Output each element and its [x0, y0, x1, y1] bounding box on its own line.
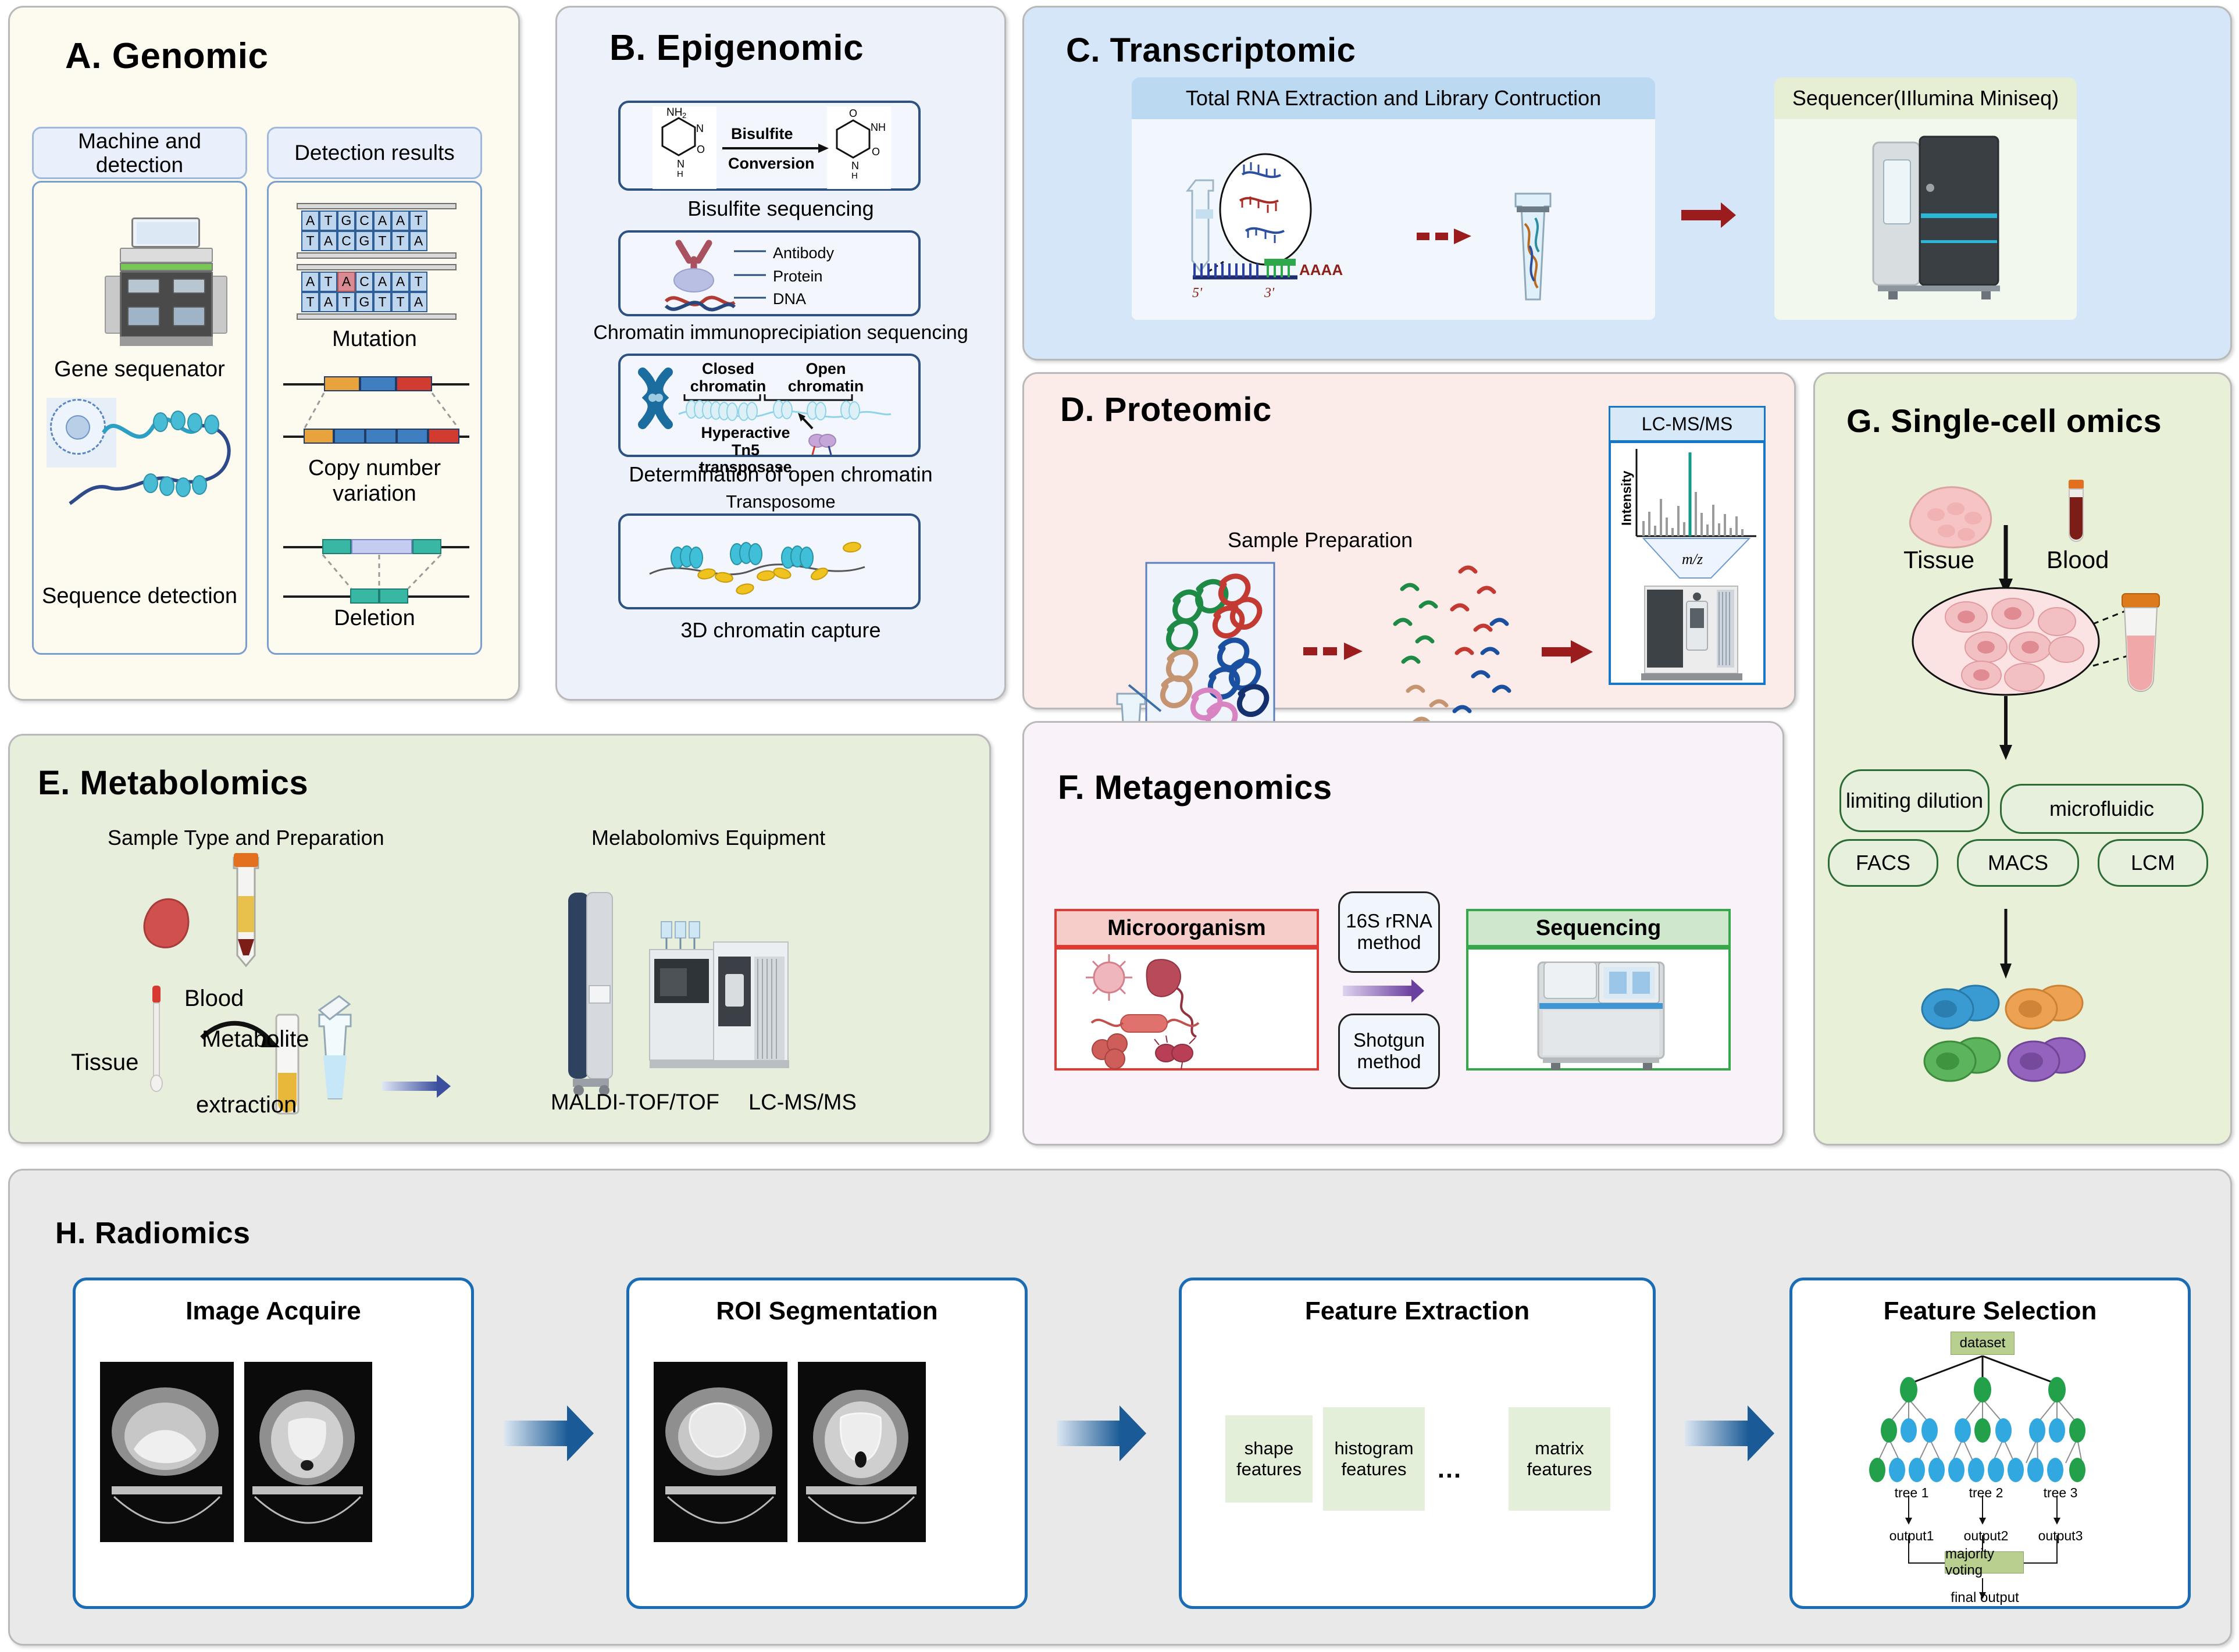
- dna-base: A: [373, 272, 391, 292]
- dna-base: T: [319, 210, 337, 231]
- svg-text:m/z: m/z: [1682, 551, 1703, 568]
- dna-base: T: [301, 231, 319, 251]
- image-acquire-title: Image Acquire: [76, 1297, 471, 1326]
- equipment-header: Melabolomivs Equipment: [591, 826, 825, 850]
- tree3-label: tree 3: [2034, 1485, 2087, 1501]
- microorganism-box: [1054, 947, 1319, 1071]
- machine-and-detection-header: Machine and detection: [32, 127, 247, 179]
- panel-metagenomics: F. Metagenomics Microorganism: [1022, 721, 1784, 1146]
- dna-base: A: [319, 231, 337, 251]
- panel-a-title: A. Genomic: [65, 35, 269, 77]
- histogram-features-label: histogram features: [1323, 1438, 1425, 1479]
- arrow-features-to-selection: [1685, 1421, 1749, 1446]
- method-16s-label: 16S rRNA method: [1340, 911, 1438, 954]
- dna-base: T: [373, 292, 391, 312]
- dna-base: T: [337, 292, 355, 312]
- method-shotgun-pill[interactable]: Shotgun method: [1338, 1014, 1440, 1089]
- dna-base: A: [337, 272, 355, 292]
- matrix-features-label: matrix features: [1509, 1438, 1610, 1479]
- deletion-caption: Deletion: [269, 606, 480, 631]
- blood-label: Blood: [184, 986, 244, 1012]
- facs-label: FACS: [1856, 851, 1910, 875]
- dna-base: A: [409, 292, 427, 312]
- svg-text:Bisulfite: Bisulfite: [731, 125, 793, 142]
- microfluidic-label: microfluidic: [2049, 797, 2154, 820]
- dna-base: A: [391, 210, 409, 231]
- method-limiting-dilution[interactable]: limiting dilution: [1839, 769, 1990, 832]
- lcms-equip-label: LC-MS/MS: [748, 1090, 857, 1115]
- to-equipment-arrow: [382, 1082, 438, 1091]
- antibody-label: Antibody: [773, 244, 834, 262]
- shape-features-label: shape features: [1225, 1438, 1313, 1479]
- protein-label: Protein: [773, 267, 823, 286]
- panel-proteomic: D. Proteomic Sample Preparation: [1022, 372, 1796, 709]
- dna-base: T: [301, 292, 319, 312]
- macs-label: MACS: [1988, 851, 2048, 875]
- svg-text:O: O: [697, 144, 705, 155]
- limiting-dilution-label: limiting dilution: [1846, 789, 1983, 812]
- tree1-label: tree 1: [1885, 1485, 1938, 1501]
- panel-c-title: C. Transcriptomic: [1066, 31, 1356, 70]
- dna-base: C: [355, 210, 373, 231]
- final-output-label: final output: [1951, 1590, 2019, 1606]
- detection-results-header: Detection results: [267, 127, 482, 179]
- chromatin3d-caption: 3D chromatin capture: [557, 618, 1004, 643]
- arrow-roi-to-features: [1057, 1421, 1121, 1446]
- svg-text:NH: NH: [871, 122, 886, 133]
- metabolomics-samples-illustration: [33, 840, 615, 1143]
- dna-base: A: [301, 272, 319, 292]
- svg-text:N: N: [696, 123, 704, 134]
- svg-text:N: N: [677, 158, 684, 170]
- panel-b-title: B. Epigenomic: [609, 27, 864, 69]
- panel-d-title: D. Proteomic: [1060, 390, 1272, 429]
- svg-text:NH: NH: [666, 106, 682, 119]
- method-facs[interactable]: FACS: [1828, 839, 1938, 887]
- dna-base: A: [409, 231, 427, 251]
- svg-text:3': 3': [1264, 286, 1275, 301]
- rna-extraction-body: AAAA 5' 3': [1132, 119, 1655, 320]
- dna-base: G: [355, 231, 373, 251]
- blood-source-label: Blood: [2047, 546, 2109, 574]
- chromatin3d-box: [618, 513, 921, 609]
- sequencer-body: [1774, 119, 2077, 320]
- dna-base: A: [373, 210, 391, 231]
- bisulfite-caption: Bisulfite sequencing: [557, 197, 1004, 221]
- svg-text:N: N: [851, 160, 859, 172]
- step-image-acquire: Image Acquire: [73, 1278, 474, 1609]
- panel-metabolomics: E. Metabolomics Sample Type and Preparat…: [8, 734, 991, 1144]
- dna-base: A: [301, 210, 319, 231]
- matrix-features-box: matrix features: [1509, 1407, 1610, 1511]
- transposome-label: Transposome: [557, 491, 1004, 512]
- panel-epigenomic: B. Epigenomic NH2 N NH O O NH NH O Bisul…: [555, 6, 1006, 701]
- svg-text:O: O: [872, 146, 880, 158]
- step-feature-extraction: Feature Extraction shape features histog…: [1179, 1278, 1656, 1609]
- svg-text:5': 5': [1192, 286, 1203, 301]
- gene-sequencer-icon: [109, 217, 223, 351]
- dna-base: T: [391, 231, 409, 251]
- dna-base: T: [409, 272, 427, 292]
- sequence-detection-caption: Sequence detection: [34, 584, 245, 609]
- method-arrow: [1343, 986, 1413, 996]
- svg-text:H: H: [851, 171, 858, 181]
- mutation-caption: Mutation: [269, 327, 480, 352]
- dna-base: C: [355, 272, 373, 292]
- machine-and-detection-body: Gene sequenator Sequence detection: [32, 181, 247, 655]
- feature-selection-title: Feature Selection: [1792, 1297, 2188, 1326]
- metabolite-label: Metabolite: [202, 1026, 309, 1052]
- dna-base: T: [373, 231, 391, 251]
- panel-single-cell-omics: G. Single-cell omics: [1813, 372, 2232, 1146]
- tissue-label: Tissue: [71, 1050, 138, 1076]
- tissue-source-label: Tissue: [1903, 546, 1974, 574]
- features-ellipsis: …: [1436, 1455, 1464, 1484]
- cnv-caption: Copy number variation: [269, 456, 480, 506]
- lcmsms-box: Intensity m/z: [1609, 441, 1766, 685]
- histogram-features-box: histogram features: [1323, 1407, 1425, 1511]
- method-macs[interactable]: MACS: [1957, 839, 2079, 887]
- method-lcm[interactable]: LCM: [2098, 839, 2208, 887]
- output1-label: output1: [1881, 1528, 1942, 1544]
- sequencer-header: Sequencer(IIlumina Miniseq): [1774, 77, 2077, 119]
- open-chromatin-box: Closed chromatin Open chromatin Hyperact…: [618, 354, 921, 457]
- panel-genomic: A. Genomic Machine and detection Gene se…: [8, 6, 520, 701]
- svg-text:AAAA: AAAA: [1299, 261, 1343, 279]
- panel-e-title: E. Metabolomics: [38, 763, 308, 802]
- rna-extraction-header: Total RNA Extraction and Library Contruc…: [1132, 77, 1655, 119]
- dna-base: A: [319, 292, 337, 312]
- panel-radiomics: H. Radiomics Image Acquire ROI Segmentat…: [8, 1169, 2232, 1646]
- dna-base: C: [337, 231, 355, 251]
- chip-box: Antibody Protein DNA: [618, 230, 921, 316]
- detection-results-body: ATGCAAT TACGTTA ATACAAT TATGTTA Mutation: [267, 181, 482, 655]
- bisulfite-box: NH2 N NH O O NH NH O Bisulfite Conversio…: [618, 101, 921, 191]
- method-shotgun-label: Shotgun method: [1340, 1030, 1438, 1073]
- gene-sequencer-caption: Gene sequenator: [34, 357, 245, 383]
- svg-text:H: H: [677, 169, 683, 179]
- open-chromatin-caption: Determination of open chromatin: [557, 462, 1004, 487]
- method-microfluidic[interactable]: microfluidic: [2000, 784, 2204, 834]
- dna-base: G: [337, 210, 355, 231]
- dna-base: A: [391, 272, 409, 292]
- shape-features-box: shape features: [1225, 1415, 1313, 1503]
- panel-f-title: F. Metagenomics: [1058, 768, 1332, 807]
- method-16s-pill[interactable]: 16S rRNA method: [1338, 891, 1440, 973]
- lcm-label: LCM: [2131, 851, 2175, 875]
- output2-label: output2: [1955, 1528, 2017, 1544]
- extraction-label: extraction: [196, 1092, 297, 1118]
- maldi-label: MALDI-TOF/TOF: [551, 1090, 719, 1115]
- tree2-label: tree 2: [1960, 1485, 2012, 1501]
- lcmsms-header: LC-MS/MS: [1609, 406, 1766, 442]
- sequencing-box: [1466, 947, 1731, 1071]
- dna-base: T: [319, 272, 337, 292]
- dna-base: G: [355, 292, 373, 312]
- chip-caption: Chromatin immunoprecipiation sequencing: [557, 322, 1004, 344]
- svg-text:O: O: [849, 108, 857, 119]
- dna-base: T: [391, 292, 409, 312]
- svg-text:Conversion: Conversion: [728, 155, 815, 172]
- dna-base: T: [409, 210, 427, 231]
- feature-extraction-title: Feature Extraction: [1182, 1297, 1653, 1326]
- dna-label: DNA: [773, 290, 806, 308]
- step-roi-segmentation: ROI Segmentation: [626, 1278, 1028, 1609]
- majority-voting-node: majority voting: [1945, 1551, 2024, 1573]
- panel-g-title: G. Single-cell omics: [1846, 402, 2162, 440]
- arrow-acquire-to-roi: [504, 1421, 568, 1446]
- output3-label: output3: [2030, 1528, 2091, 1544]
- svg-text:2: 2: [682, 111, 686, 120]
- step-feature-selection: Feature Selection dataset: [1789, 1278, 2191, 1609]
- to-sequencer-arrow: [1681, 210, 1722, 220]
- panel-h-title: H. Radiomics: [55, 1216, 250, 1251]
- sequencing-header: Sequencing: [1466, 909, 1731, 947]
- microorganism-header: Microorganism: [1054, 909, 1319, 947]
- roi-segmentation-title: ROI Segmentation: [629, 1297, 1025, 1326]
- panel-transcriptomic: C. Transcriptomic Total RNA Extraction a…: [1022, 6, 2232, 361]
